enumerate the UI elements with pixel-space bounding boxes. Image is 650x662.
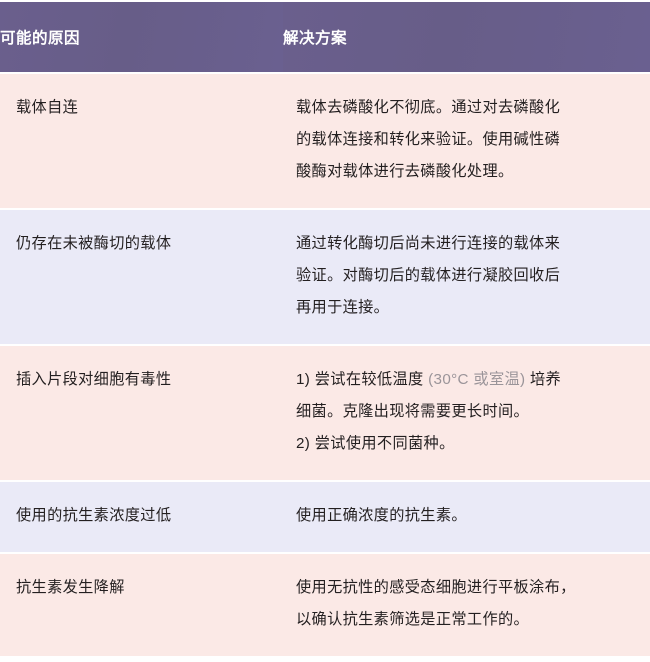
solution-line: 验证。对酶切后的载体进行凝胶回收后 — [296, 260, 636, 292]
solution-text: 通过转化酶切后尚未进行连接的载体来 — [296, 235, 560, 252]
table-row: 仍存在未被酶切的载体通过转化酶切后尚未进行连接的载体来验证。对酶切后的载体进行凝… — [0, 210, 650, 344]
solution-line: 以确认抗生素筛选是正常工作的。 — [296, 604, 636, 636]
cell-cause: 仍存在未被酶切的载体 — [0, 210, 283, 344]
column-header-solution: 解决方案 — [283, 2, 650, 72]
solution-text-cont: 培养 — [525, 371, 561, 388]
solution-text: 的载体连接和转化来验证。使用碱性磷 — [296, 131, 560, 148]
solution-text: 再用于连接。 — [296, 299, 389, 316]
troubleshooting-table-container: 可能的原因 解决方案 载体自连载体去磷酸化不彻底。通过对去磷酸化的载体连接和转化… — [0, 0, 650, 563]
solution-text: 使用正确浓度的抗生素。 — [296, 507, 467, 524]
bottom-spacer — [0, 658, 650, 662]
table-row: 抗生素发生降解使用无抗性的感受态细胞进行平板涂布，以确认抗生素筛选是正常工作的。 — [0, 554, 650, 656]
solution-line: 2) 尝试使用不同菌种。 — [296, 428, 636, 460]
solution-text: 酸酶对载体进行去磷酸化处理。 — [296, 163, 514, 180]
table-body: 载体自连载体去磷酸化不彻底。通过对去磷酸化的载体连接和转化来验证。使用碱性磷酸酶… — [0, 74, 650, 656]
troubleshooting-table: 可能的原因 解决方案 载体自连载体去磷酸化不彻底。通过对去磷酸化的载体连接和转化… — [0, 0, 650, 658]
solution-line: 再用于连接。 — [296, 292, 636, 324]
solution-text: 以确认抗生素筛选是正常工作的。 — [296, 611, 529, 628]
solution-line: 通过转化酶切后尚未进行连接的载体来 — [296, 228, 636, 260]
cell-cause: 载体自连 — [0, 74, 283, 208]
solution-annotation: (30°C 或室温) — [428, 371, 525, 388]
solution-text: 2) 尝试使用不同菌种。 — [296, 435, 455, 452]
cell-solution: 1) 尝试在较低温度 (30°C 或室温) 培养细菌。克隆出现将需要更长时间。2… — [283, 346, 650, 480]
table-row: 使用的抗生素浓度过低使用正确浓度的抗生素。 — [0, 482, 650, 552]
table-header-row: 可能的原因 解决方案 — [0, 2, 650, 72]
solution-text: 1) 尝试在较低温度 — [296, 371, 428, 388]
cell-solution: 载体去磷酸化不彻底。通过对去磷酸化的载体连接和转化来验证。使用碱性磷酸酶对载体进… — [283, 74, 650, 208]
table-row: 插入片段对细胞有毒性1) 尝试在较低温度 (30°C 或室温) 培养细菌。克隆出… — [0, 346, 650, 480]
cell-solution: 通过转化酶切后尚未进行连接的载体来验证。对酶切后的载体进行凝胶回收后再用于连接。 — [283, 210, 650, 344]
solution-text: 载体去磷酸化不彻底。通过对去磷酸化 — [296, 99, 560, 116]
solution-line: 1) 尝试在较低温度 (30°C 或室温) 培养 — [296, 364, 636, 396]
solution-text: 验证。对酶切后的载体进行凝胶回收后 — [296, 267, 560, 284]
solution-line: 的载体连接和转化来验证。使用碱性磷 — [296, 124, 636, 156]
solution-line: 载体去磷酸化不彻底。通过对去磷酸化 — [296, 92, 636, 124]
table-header: 可能的原因 解决方案 — [0, 2, 650, 72]
solution-line: 使用无抗性的感受态细胞进行平板涂布， — [296, 572, 636, 604]
solution-text: 使用无抗性的感受态细胞进行平板涂布， — [296, 579, 576, 596]
cell-cause: 插入片段对细胞有毒性 — [0, 346, 283, 480]
cell-solution: 使用无抗性的感受态细胞进行平板涂布，以确认抗生素筛选是正常工作的。 — [283, 554, 650, 656]
solution-line: 细菌。克隆出现将需要更长时间。 — [296, 396, 636, 428]
column-header-cause: 可能的原因 — [0, 2, 283, 72]
solution-text: 细菌。克隆出现将需要更长时间。 — [296, 403, 529, 420]
solution-line: 酸酶对载体进行去磷酸化处理。 — [296, 156, 636, 188]
cell-cause: 使用的抗生素浓度过低 — [0, 482, 283, 552]
cell-solution: 使用正确浓度的抗生素。 — [283, 482, 650, 552]
table-row: 载体自连载体去磷酸化不彻底。通过对去磷酸化的载体连接和转化来验证。使用碱性磷酸酶… — [0, 74, 650, 208]
cell-cause: 抗生素发生降解 — [0, 554, 283, 656]
solution-line: 使用正确浓度的抗生素。 — [296, 500, 636, 532]
